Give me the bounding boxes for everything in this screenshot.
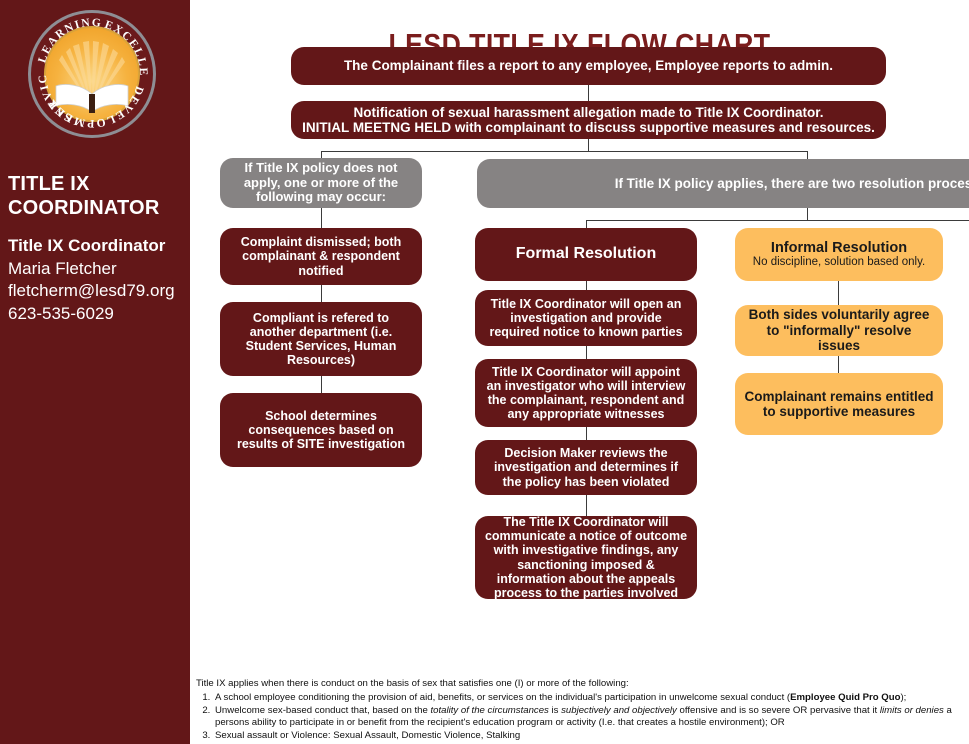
node-formal-step-2: Title IX Coordinator will appoint an inv…	[475, 359, 697, 427]
node-policy-applies-label: If Title IX policy applies, there are tw…	[486, 176, 969, 191]
connector-intake-to-notification	[588, 85, 589, 101]
node-formal-step-1-label: Title IX Coordinator will open an invest…	[484, 297, 688, 340]
node-formal-heading-label: Formal Resolution	[484, 245, 688, 263]
connector-resolution-split	[586, 220, 969, 221]
connector-notification-stem	[588, 139, 589, 151]
node-formal-step-4-label: The Title IX Coordinator will communicat…	[484, 515, 688, 601]
node-informal-heading-label: Informal Resolution	[744, 240, 934, 257]
connector-applies-stem	[807, 208, 808, 220]
connector-left1-to-left2	[321, 285, 322, 302]
node-left-dismissed-label: Complaint dismissed; both complainant & …	[229, 235, 413, 278]
node-intake: The Complainant files a report to any em…	[291, 47, 886, 85]
footnote-item-2: Unwelcome sex-based conduct that, based …	[213, 705, 966, 731]
footnote-item-1: A school employee conditioning the provi…	[213, 692, 966, 705]
node-informal-step-1-label: Both sides voluntarily agree to "informa…	[744, 307, 934, 353]
node-policy-not-apply: If Title IX policy does not apply, one o…	[220, 158, 422, 208]
coordinator-email[interactable]: fletcherm@lesd79.org	[8, 280, 190, 303]
connector-formal-step1-to-step2	[586, 346, 587, 359]
node-informal-step-2-label: Complainant remains entitled to supporti…	[744, 389, 934, 420]
node-informal-heading: Informal Resolution No discipline, solut…	[735, 228, 943, 281]
node-intake-label: The Complainant files a report to any em…	[300, 58, 877, 73]
connector-notification-split	[321, 151, 808, 152]
footnote-block: Title IX applies when there is conduct o…	[196, 678, 966, 743]
node-formal-step-3-label: Decision Maker reviews the investigation…	[484, 446, 688, 489]
node-formal-heading: Formal Resolution	[475, 228, 697, 281]
node-policy-applies: If Title IX policy applies, there are tw…	[477, 159, 969, 208]
connector-formal-to-step1	[586, 281, 587, 290]
node-informal-subtext: No discipline, solution based only.	[753, 256, 925, 269]
connector-to-policy-applies	[807, 151, 808, 159]
district-seal-logo: LEARNING EXCELLENCE DEVELOPMENT SERVICE	[26, 8, 158, 140]
coordinator-contact-block: Title IX Coordinator Maria Fletcher flet…	[8, 235, 190, 325]
node-formal-step-4: The Title IX Coordinator will communicat…	[475, 516, 697, 599]
node-informal-step-2: Complainant remains entitled to supporti…	[735, 373, 943, 435]
node-formal-step-1: Title IX Coordinator will open an invest…	[475, 290, 697, 346]
node-left-consequences: School determines consequences based on …	[220, 393, 422, 467]
node-informal-step-1: Both sides voluntarily agree to "informa…	[735, 305, 943, 356]
node-left-consequences-label: School determines consequences based on …	[229, 409, 413, 452]
node-left-referred: Compliant is refered to another departme…	[220, 302, 422, 376]
node-left-referred-label: Compliant is refered to another departme…	[229, 311, 413, 368]
flow-chart-canvas: LESD TITLE IX FLOW CHART The Complainant…	[190, 0, 969, 744]
footnote-lead: Title IX applies when there is conduct o…	[196, 678, 966, 691]
node-policy-not-apply-label: If Title IX policy does not apply, one o…	[229, 161, 413, 205]
sidebar-heading: TITLE IX COORDINATOR	[8, 172, 188, 221]
connector-gray-to-left1	[321, 208, 322, 228]
connector-to-formal	[586, 220, 587, 228]
connector-formal-step2-to-step3	[586, 427, 587, 440]
connector-informal-step1-to-step2	[838, 356, 839, 373]
node-formal-step-2-label: Title IX Coordinator will appoint an inv…	[484, 365, 688, 422]
footnote-item-3: Sexual assault or Violence: Sexual Assau…	[213, 730, 966, 743]
connector-informal-to-step1	[838, 281, 839, 305]
node-formal-step-3: Decision Maker reviews the investigation…	[475, 440, 697, 495]
connector-formal-step3-to-step4	[586, 495, 587, 516]
footnote-list: A school employee conditioning the provi…	[196, 692, 966, 743]
sidebar: LEARNING EXCELLENCE DEVELOPMENT SERVICE …	[0, 0, 190, 744]
node-notification-line2: INITIAL MEETNG HELD with complainant to …	[300, 120, 877, 135]
node-notification-line1: Notification of sexual harassment allega…	[300, 105, 877, 120]
coordinator-name: Maria Fletcher	[8, 258, 190, 281]
connector-left2-to-left3	[321, 376, 322, 393]
node-left-dismissed: Complaint dismissed; both complainant & …	[220, 228, 422, 285]
coordinator-phone[interactable]: 623-535-6029	[8, 303, 190, 326]
coordinator-role: Title IX Coordinator	[8, 235, 190, 258]
node-notification: Notification of sexual harassment allega…	[291, 101, 886, 139]
